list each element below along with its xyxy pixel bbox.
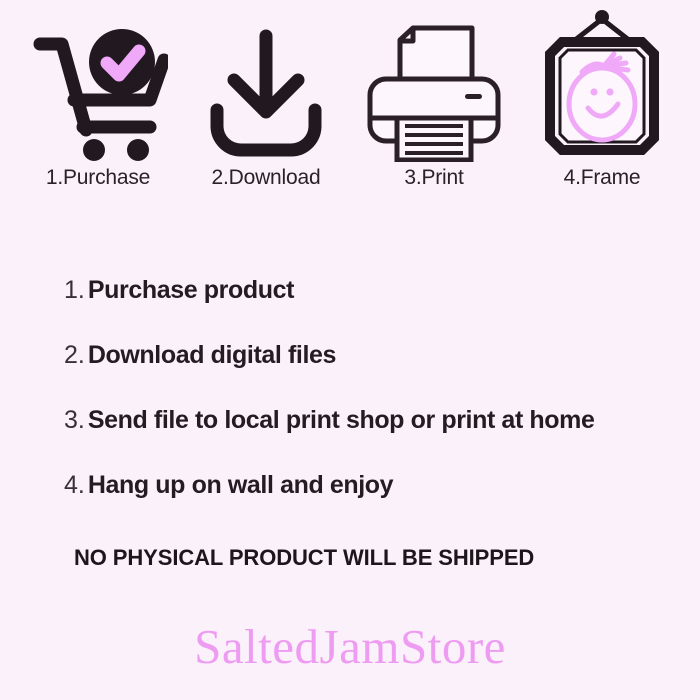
list-item: 3. Send file to local print shop or prin… [64,406,664,471]
list-item-number: 3. [64,406,85,435]
download-tray-icon [190,12,342,162]
step-caption: 4.Frame [564,166,641,190]
step-print: 3.Print [358,12,510,190]
list-item-label: Purchase product [88,276,294,305]
disclaimer-text: NO PHYSICAL PRODUCT WILL BE SHIPPED [74,545,534,571]
list-item-number: 2. [64,341,85,370]
list-item-number: 4. [64,471,85,500]
list-item: 1. Purchase product [64,276,664,341]
instruction-list: 1. Purchase product 2. Download digital … [64,276,664,536]
step-purchase: 1.Purchase [22,12,174,190]
list-item-label: Send file to local print shop or print a… [88,406,595,435]
list-item-label: Download digital files [88,341,336,370]
list-item: 4. Hang up on wall and enjoy [64,471,664,536]
step-download: 2.Download [190,12,342,190]
shopping-cart-check-icon [22,12,174,162]
step-frame: 4.Frame [526,12,678,190]
printer-icon [358,12,510,162]
step-caption: 2.Download [212,166,321,190]
list-item: 2. Download digital files [64,341,664,406]
step-caption: 3.Print [404,166,463,190]
hanging-picture-frame-icon [526,12,678,162]
product-instructions-graphic: 1.Purchase 2.Download [0,0,700,700]
steps-strip: 1.Purchase 2.Download [0,12,700,197]
list-item-label: Hang up on wall and enjoy [88,471,393,500]
brand-wordmark: SaltedJamStore [0,618,700,675]
list-item-number: 1. [64,276,85,305]
step-caption: 1.Purchase [46,166,150,190]
